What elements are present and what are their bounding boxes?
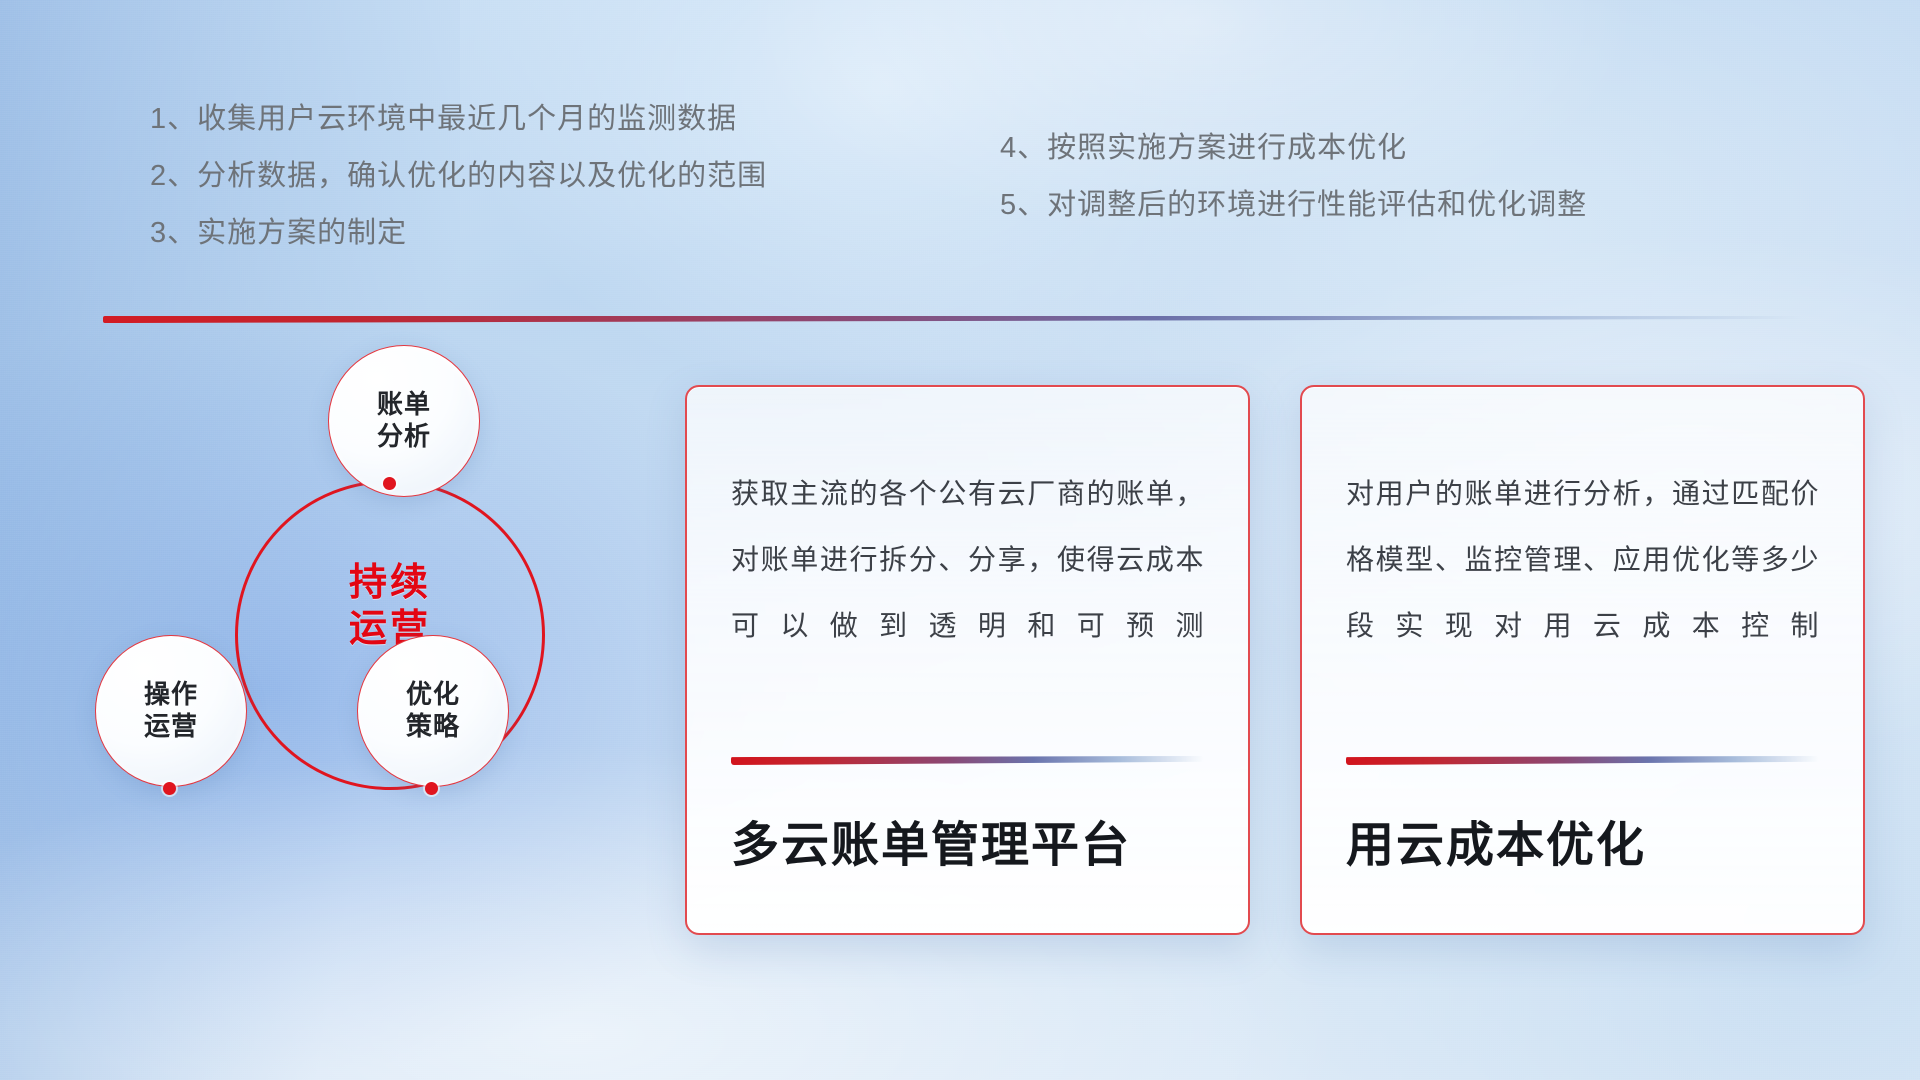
step-item-3: 3、实施方案的制定 bbox=[150, 209, 407, 251]
card-multi-cloud-billing[interactable]: 获取主流的各个公有云厂商的账单，对账单进行拆分、分享，使得云成本可以做到透明和可… bbox=[685, 385, 1250, 935]
node-label: 优化 策略 bbox=[406, 679, 460, 742]
node-label-line2: 运营 bbox=[144, 711, 198, 743]
node-connector-dot-bottom-left bbox=[163, 782, 176, 795]
node-label: 账单 分析 bbox=[377, 389, 431, 452]
card-title: 多云账单管理平台 bbox=[731, 765, 1204, 933]
steps-list: 1、收集用户云环境中最近几个月的监测数据 2、分析数据，确认优化的内容以及优化的… bbox=[0, 0, 1920, 250]
center-label-line2: 运营 bbox=[263, 606, 517, 652]
step-item-2: 2、分析数据，确认优化的内容以及优化的范围 bbox=[150, 152, 767, 194]
card-body-text: 对用户的账单进行分析，通过匹配价格模型、监控管理、应用优化等多少段实现对用云成本… bbox=[1346, 461, 1819, 658]
node-label-line2: 分析 bbox=[377, 421, 431, 453]
step-item-4: 4、按照实施方案进行成本优化 bbox=[1000, 124, 1407, 166]
card-divider bbox=[1346, 756, 1819, 765]
node-label-line1: 账单 bbox=[377, 389, 431, 421]
continuous-operation-diagram: 持续 运营 账单 分析 操作 运营 优化 策略 bbox=[95, 355, 615, 915]
step-item-5: 5、对调整后的环境进行性能评估和优化调整 bbox=[1000, 181, 1587, 223]
node-label-line2: 策略 bbox=[406, 711, 460, 743]
node-label-line1: 操作 bbox=[144, 679, 198, 711]
node-connector-dot-top bbox=[383, 477, 396, 490]
diagram-node-operations[interactable]: 操作 运营 bbox=[95, 635, 247, 787]
diagram-node-optimization-strategy[interactable]: 优化 策略 bbox=[357, 635, 509, 787]
card-divider bbox=[731, 756, 1204, 765]
card-cloud-cost-optimization[interactable]: 对用户的账单进行分析，通过匹配价格模型、监控管理、应用优化等多少段实现对用云成本… bbox=[1300, 385, 1865, 935]
node-label-line1: 优化 bbox=[406, 679, 460, 711]
node-connector-dot-bottom-right bbox=[425, 782, 438, 795]
diagram-center-label: 持续 运营 bbox=[263, 560, 517, 653]
card-body-text: 获取主流的各个公有云厂商的账单，对账单进行拆分、分享，使得云成本可以做到透明和可… bbox=[731, 461, 1204, 658]
center-label-line1: 持续 bbox=[263, 560, 517, 606]
diagram-node-bill-analysis[interactable]: 账单 分析 bbox=[328, 345, 480, 497]
card-title: 用云成本优化 bbox=[1346, 765, 1819, 933]
step-item-1: 1、收集用户云环境中最近几个月的监测数据 bbox=[150, 95, 737, 137]
node-label: 操作 运营 bbox=[144, 679, 198, 742]
